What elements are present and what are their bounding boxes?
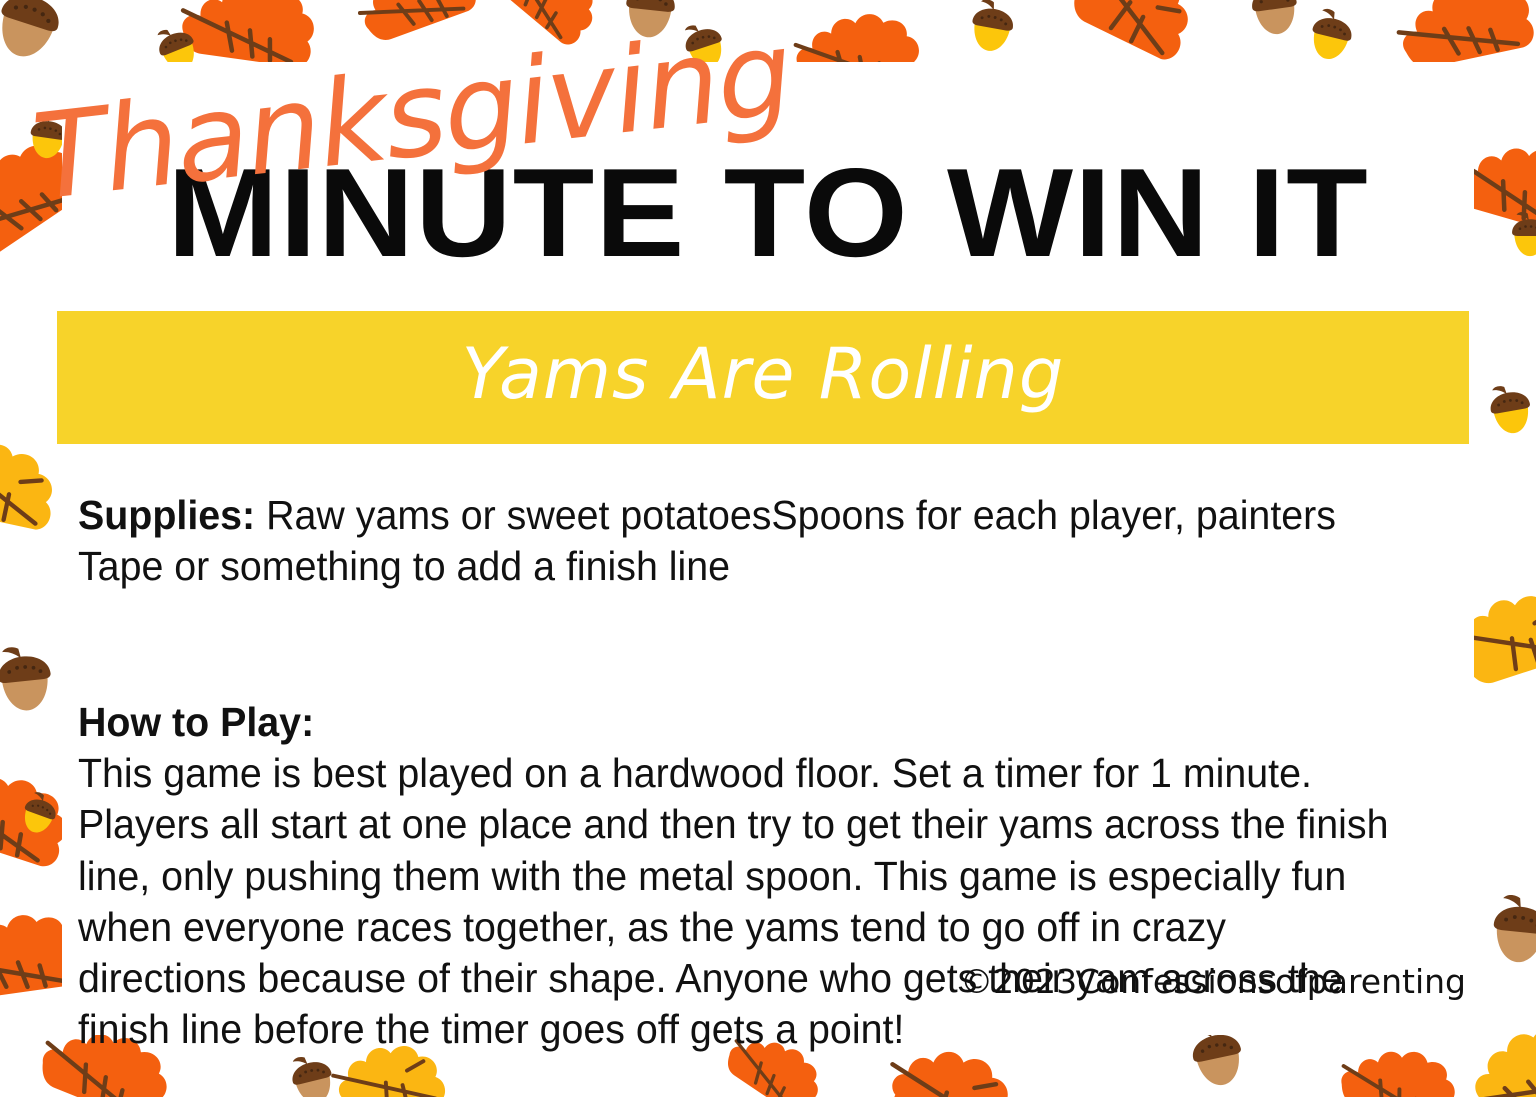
subtitle-banner: Yams Are Rolling bbox=[57, 311, 1469, 444]
acorn-icon bbox=[1475, 375, 1536, 447]
poster-page: Thanksgiving MINUTE TO WIN IT Yams Are R… bbox=[0, 0, 1536, 1097]
game-name-subtitle: Yams Are Rolling bbox=[462, 339, 1065, 409]
acorn-icon bbox=[1474, 886, 1536, 978]
supplies-section: Supplies: Raw yams or sweet potatoesSpoo… bbox=[78, 490, 1405, 592]
acorn-icon bbox=[955, 0, 1029, 65]
title-block: Thanksgiving MINUTE TO WIN IT bbox=[62, 62, 1474, 302]
content-panel: Thanksgiving MINUTE TO WIN IT Yams Are R… bbox=[62, 62, 1474, 1035]
supplies-text: Raw yams or sweet potatoesSpoons for eac… bbox=[78, 492, 1336, 589]
acorn-icon bbox=[0, 636, 70, 726]
copyright-notice: ©2023Confessionsofparenting bbox=[960, 962, 1466, 1001]
how-to-play-label: How to Play: bbox=[78, 697, 314, 748]
how-to-play-text: This game is best played on a hardwood f… bbox=[78, 748, 1405, 1056]
supplies-label: Supplies: bbox=[78, 492, 255, 538]
acorn-icon bbox=[1235, 0, 1314, 49]
